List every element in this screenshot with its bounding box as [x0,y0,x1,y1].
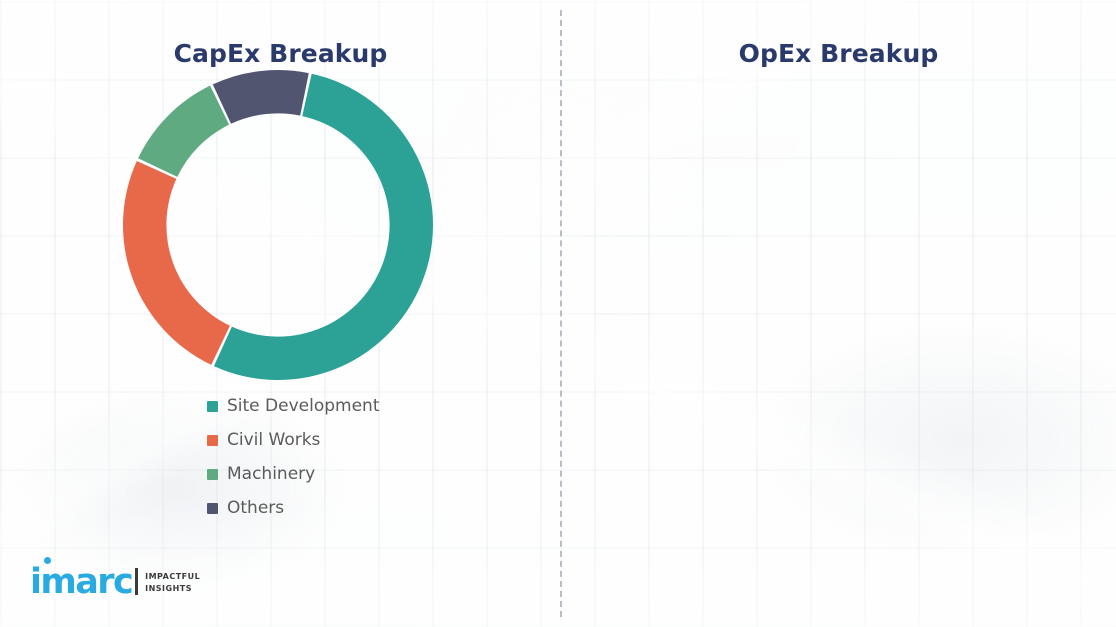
legend-item-label: Civil Works [227,430,320,450]
donut-slice[interactable] [214,74,433,380]
donut-slice[interactable] [138,86,229,177]
logo-dot-icon [44,557,51,564]
logo-tagline-line2: INSIGHTS [145,583,200,595]
legend-item[interactable]: Civil Works [207,423,380,457]
legend-swatch-icon [207,435,218,446]
logo-tagline: IMPACTFUL INSIGHTS [145,571,200,594]
imarc-logo: imarc IMPACTFUL INSIGHTS [30,566,200,598]
opex-title: OpEx Breakup [561,39,1116,68]
infographic-stage: CapEx Breakup Site DevelopmentCivil Work… [0,0,1116,627]
legend-item[interactable]: Machinery [207,457,380,491]
legend-item-label: Site Development [227,396,380,416]
donut-slice[interactable] [123,161,230,365]
capex-donut-svg [120,67,436,383]
legend-swatch-icon [207,401,218,412]
legend-swatch-icon [207,503,218,514]
panel-divider [560,10,562,617]
legend-item[interactable]: Others [207,491,380,525]
donut-slice[interactable] [213,70,309,124]
logo-wordmark: imarc [30,566,132,598]
capex-donut-chart [120,67,436,383]
capex-title: CapEx Breakup [0,39,561,68]
capex-panel: CapEx Breakup Site DevelopmentCivil Work… [0,0,561,627]
logo-divider-bar [135,568,138,595]
opex-panel: OpEx Breakup Raw MaterialsSalaries and W… [561,0,1116,627]
legend-item-label: Machinery [227,464,315,484]
legend-item[interactable]: Site Development [207,389,380,423]
legend-item-label: Others [227,498,284,518]
legend-swatch-icon [207,469,218,480]
capex-legend: Site DevelopmentCivil WorksMachineryOthe… [207,389,380,525]
logo-tagline-line1: IMPACTFUL [145,571,200,583]
